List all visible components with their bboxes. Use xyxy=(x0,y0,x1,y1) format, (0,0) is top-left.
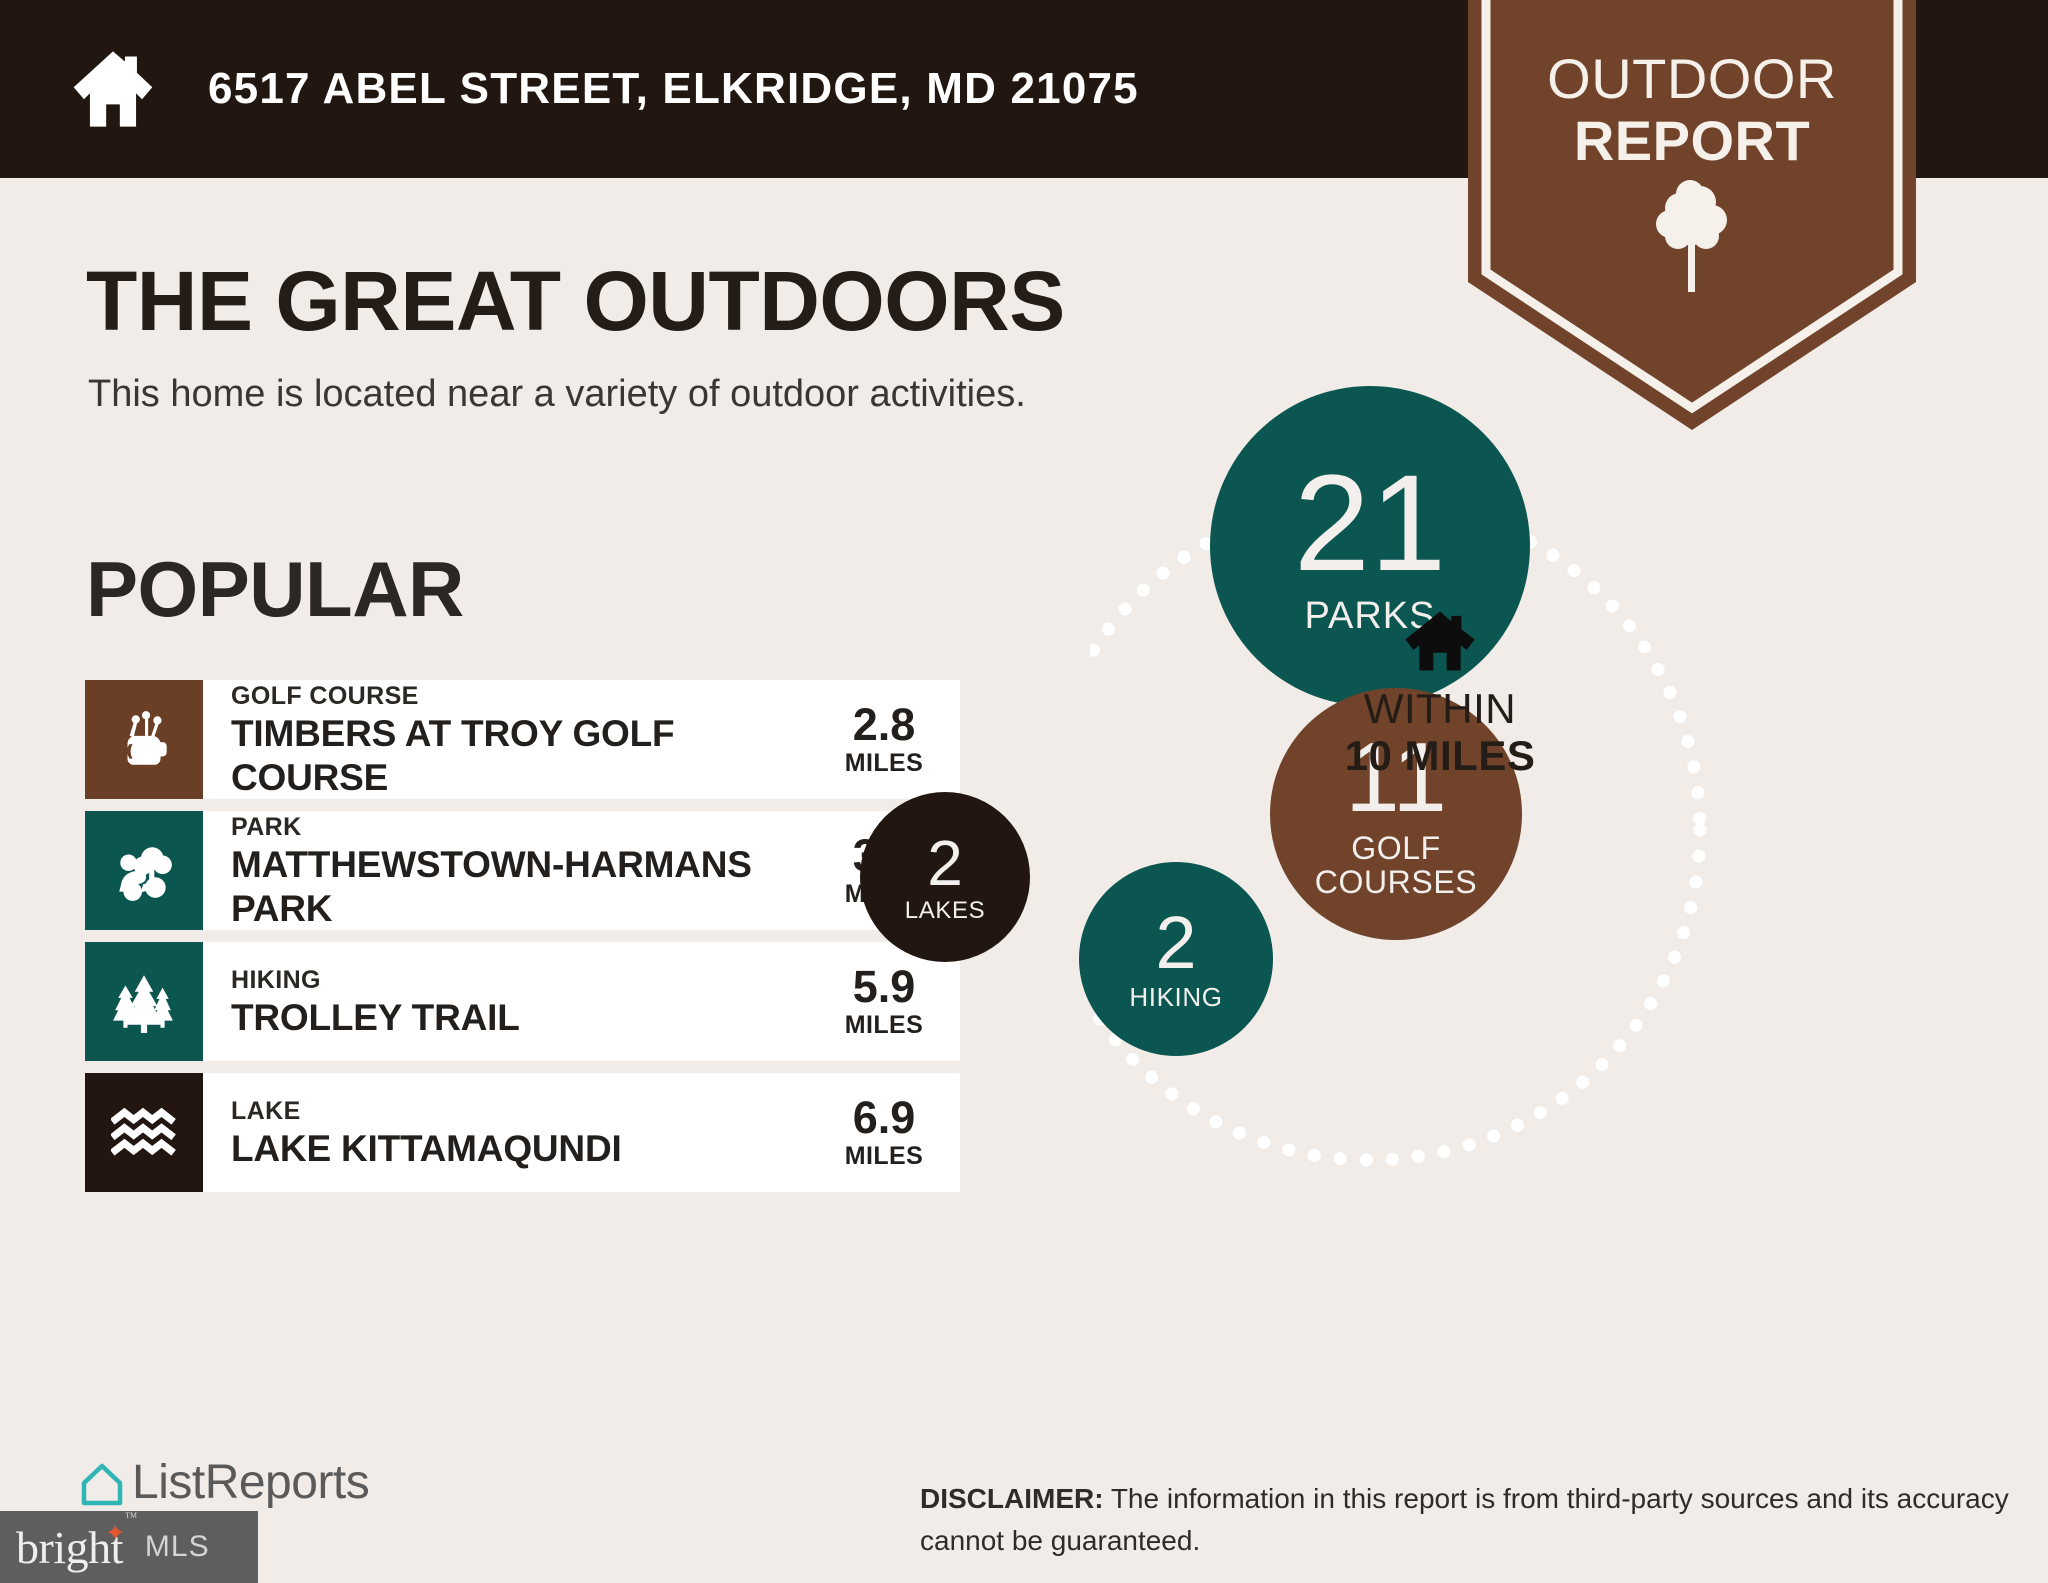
list-item-name: TROLLEY TRAIL xyxy=(231,996,520,1040)
list-item[interactable]: PARK MATTHEWSTOWN-HARMANS PARK 3.2 MILES xyxy=(85,811,960,930)
badge-line1: OUTDOOR xyxy=(1468,48,1916,110)
list-item-distance: 5.9 MILES xyxy=(834,964,934,1040)
list-item-body: HIKING TROLLEY TRAIL 5.9 MILES xyxy=(203,942,960,1061)
bubble-label-line2: COURSES xyxy=(1315,866,1477,900)
header-address: 6517 ABEL STREET, ELKRIDGE, MD 21075 xyxy=(208,64,1139,114)
diagram-center: WITHIN 10 MILES xyxy=(1300,610,1580,780)
star-icon: ✦ xyxy=(105,1519,125,1548)
bubble-count: 2 xyxy=(1155,906,1196,980)
bubble-label: HIKING xyxy=(1129,984,1222,1012)
badge-line2: REPORT xyxy=(1468,110,1916,172)
listreports-label: ListReports xyxy=(132,1455,369,1510)
popular-list: GOLF COURSE TIMBERS AT TROY GOLF COURSE … xyxy=(85,680,960,1204)
list-item-category: GOLF COURSE xyxy=(231,680,834,712)
house-icon xyxy=(70,48,156,130)
amenities-bubble-diagram: 21 PARKS 11 GOLF COURSES 2 HIKING 2 LAKE… xyxy=(1090,470,1990,1190)
page-subtitle: This home is located near a variety of o… xyxy=(88,373,1026,416)
park-trees-icon xyxy=(85,811,203,930)
list-item-category: PARK xyxy=(231,811,834,843)
bubble-label-line1: GOLF xyxy=(1351,832,1441,866)
list-item[interactable]: GOLF COURSE TIMBERS AT TROY GOLF COURSE … xyxy=(85,680,960,799)
bubble-hiking[interactable]: 2 HIKING xyxy=(1079,862,1273,1056)
mls-label: MLS xyxy=(145,1530,210,1564)
list-item-name: MATTHEWSTOWN-HARMANS PARK xyxy=(231,843,834,931)
list-item[interactable]: HIKING TROLLEY TRAIL 5.9 MILES xyxy=(85,942,960,1061)
waves-icon xyxy=(85,1073,203,1192)
outdoor-report-badge: OUTDOOR REPORT xyxy=(1468,0,1916,430)
list-item-distance: 6.9 MILES xyxy=(834,1095,934,1171)
center-line1: WITHIN xyxy=(1300,686,1580,732)
house-icon xyxy=(1403,610,1477,672)
bubble-label: LAKES xyxy=(905,898,985,923)
distance-value: 2.8 xyxy=(834,702,934,748)
distance-unit: MILES xyxy=(834,1010,934,1040)
bright-brand: bright ✦ ™ xyxy=(16,1521,123,1574)
bubble-count: 2 xyxy=(927,831,963,895)
tm-mark: ™ xyxy=(125,1509,137,1525)
bright-mls-watermark: bright ✦ ™ MLS xyxy=(0,1511,258,1583)
badge-title: OUTDOOR REPORT xyxy=(1468,48,1916,172)
list-item-distance: 2.8 MILES xyxy=(834,702,934,778)
bubble-lakes[interactable]: 2 LAKES xyxy=(860,792,1030,962)
list-item-body: LAKE LAKE KITTAMAQUNDI 6.9 MILES xyxy=(203,1073,960,1192)
list-item[interactable]: LAKE LAKE KITTAMAQUNDI 6.9 MILES xyxy=(85,1073,960,1192)
tree-icon xyxy=(1656,178,1728,296)
distance-value: 5.9 xyxy=(834,964,934,1010)
distance-value: 6.9 xyxy=(834,1095,934,1141)
list-item-name: LAKE KITTAMAQUNDI xyxy=(231,1127,622,1171)
list-item-category: HIKING xyxy=(231,964,520,996)
disclaimer-label: DISCLAIMER: xyxy=(920,1483,1104,1514)
center-line2: 10 MILES xyxy=(1300,732,1580,780)
list-item-body: GOLF COURSE TIMBERS AT TROY GOLF COURSE … xyxy=(203,680,960,799)
house-outline-icon xyxy=(78,1459,126,1507)
pine-trees-icon xyxy=(85,942,203,1061)
popular-heading: POPULAR xyxy=(86,544,464,635)
list-item-category: LAKE xyxy=(231,1095,622,1127)
distance-unit: MILES xyxy=(834,1141,934,1171)
golf-bag-icon xyxy=(85,680,203,799)
listreports-logo[interactable]: ListReports xyxy=(78,1455,369,1510)
list-item-body: PARK MATTHEWSTOWN-HARMANS PARK 3.2 MILES xyxy=(203,811,960,930)
disclaimer: DISCLAIMER: The information in this repo… xyxy=(920,1478,2010,1562)
list-item-name: TIMBERS AT TROY GOLF COURSE xyxy=(231,712,834,800)
page-title: THE GREAT OUTDOORS xyxy=(86,253,1065,350)
distance-unit: MILES xyxy=(834,748,934,778)
bubble-count: 21 xyxy=(1294,455,1446,592)
